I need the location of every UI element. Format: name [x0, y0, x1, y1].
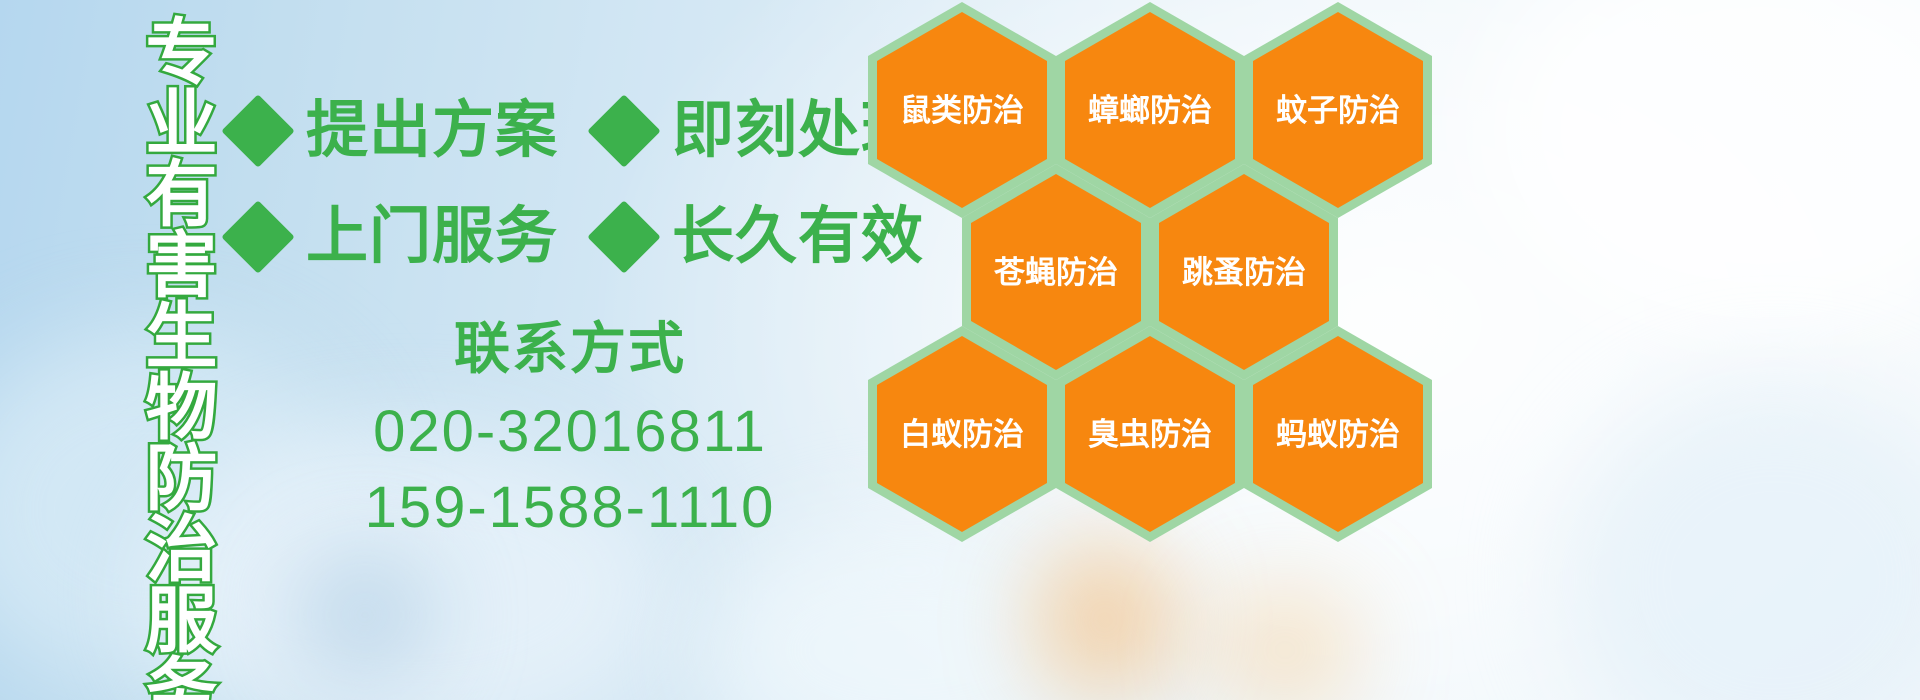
- service-label: 蚂蚁防治: [1276, 419, 1400, 450]
- hex-inner: 鼠类防治: [877, 12, 1047, 208]
- contact-phone-landline[interactable]: 020-32016811: [310, 394, 830, 471]
- diamond-icon: [587, 200, 661, 274]
- vertical-headline: 专业有害生物防治服务: [112, 14, 210, 700]
- background-blur-blob: [300, 555, 430, 675]
- hex-inner: 苍蝇防治: [971, 174, 1141, 370]
- slogan-row: 上门服务 长久有效: [232, 184, 872, 290]
- background-blur-blob: [1210, 585, 1360, 700]
- service-label: 臭虫防治: [1088, 419, 1212, 450]
- service-label: 跳蚤防治: [1182, 257, 1306, 288]
- background-blur-blob: [1480, 0, 1920, 340]
- contact-phone-mobile[interactable]: 159-1588-1110: [310, 470, 830, 547]
- pest-control-banner: 专业有害生物防治服务 提出方案 即刻处理 上门服务 长久有效 联系方式: [0, 0, 1920, 700]
- contact-title: 联系方式: [310, 318, 830, 380]
- hex-inner: 臭虫防治: [1065, 336, 1235, 532]
- slogan-label: 上门服务: [306, 206, 558, 268]
- service-label: 蟑螂防治: [1088, 95, 1212, 126]
- service-label: 鼠类防治: [900, 95, 1024, 126]
- service-label: 白蚁防治: [900, 419, 1024, 450]
- diamond-icon: [587, 94, 661, 168]
- hex-inner: 跳蚤防治: [1159, 174, 1329, 370]
- contact-block: 联系方式 020-32016811 159-1588-1110: [310, 318, 830, 547]
- hex-inner: 白蚁防治: [877, 336, 1047, 532]
- slogan-list: 提出方案 即刻处理 上门服务 长久有效: [232, 78, 872, 290]
- slogan-item: 上门服务: [232, 206, 558, 268]
- service-label: 蚊子防治: [1276, 95, 1400, 126]
- hex-inner: 蚂蚁防治: [1253, 336, 1423, 532]
- diamond-icon: [221, 200, 295, 274]
- service-honeycomb: 鼠类防治 蟑螂防治 蚊子防治 苍蝇防治 跳蚤防治 白蚁防: [862, 0, 1462, 572]
- background-blur-blob: [1560, 380, 1920, 700]
- diamond-icon: [221, 94, 295, 168]
- slogan-item: 提出方案: [232, 100, 558, 162]
- service-label: 苍蝇防治: [994, 257, 1118, 288]
- hex-inner: 蚊子防治: [1253, 12, 1423, 208]
- slogan-label: 提出方案: [306, 100, 558, 162]
- hex-inner: 蟑螂防治: [1065, 12, 1235, 208]
- slogan-row: 提出方案 即刻处理: [232, 78, 872, 184]
